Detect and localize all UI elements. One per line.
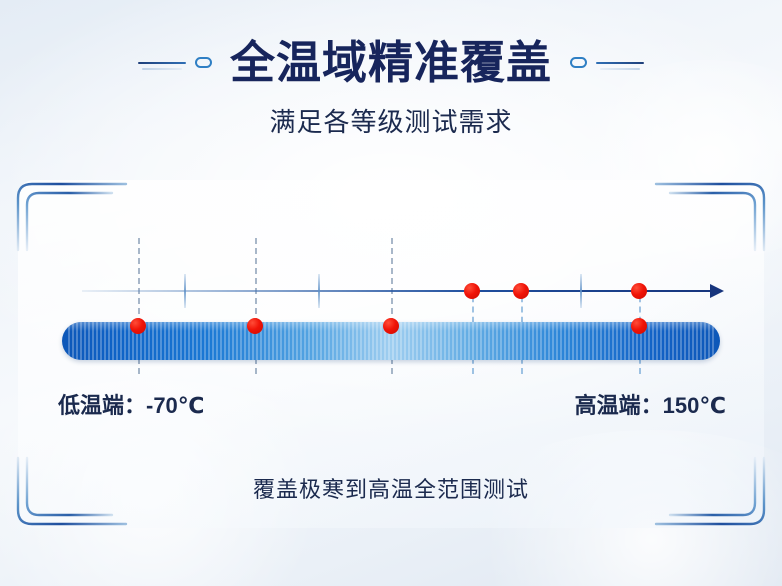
page-title: 全温域精准覆盖: [230, 38, 552, 88]
data-point-marker[interactable]: [631, 318, 647, 334]
ornament-rule: [596, 62, 644, 64]
page-subtitle: 满足各等级测试需求: [0, 102, 782, 139]
pill-line-ornament-icon: [566, 50, 644, 76]
axis-tick: [580, 274, 582, 308]
axis-line: [82, 290, 712, 292]
data-point-marker[interactable]: [513, 283, 529, 299]
ornament-pill: [570, 57, 587, 68]
low-temperature-label: 低温端：-70℃: [58, 388, 204, 420]
axis-arrow-icon: [710, 284, 724, 298]
temperature-range-chart: 低温端：-70℃ 高温端：150℃ 覆盖极寒到高温全范围测试: [18, 180, 764, 528]
slide-canvas: 全温域精准覆盖 满足各等级测试需求: [0, 0, 782, 586]
header: 全温域精准覆盖 满足各等级测试需求: [0, 38, 782, 139]
data-point-marker[interactable]: [631, 283, 647, 299]
ornament-pill: [195, 57, 212, 68]
data-point-marker[interactable]: [247, 318, 263, 334]
chart-caption: 覆盖极寒到高温全范围测试: [18, 472, 764, 504]
axis-tick: [184, 274, 186, 308]
ornament-rule: [138, 62, 186, 64]
data-point-marker[interactable]: [383, 318, 399, 334]
data-point-marker[interactable]: [464, 283, 480, 299]
content-panel: 低温端：-70℃ 高温端：150℃ 覆盖极寒到高温全范围测试: [18, 180, 764, 528]
ornament-rule-faint: [600, 68, 640, 70]
data-point-marker[interactable]: [130, 318, 146, 334]
title-row: 全温域精准覆盖: [0, 38, 782, 88]
line-pill-ornament-icon: [138, 50, 216, 76]
high-temperature-label: 高温端：150℃: [575, 388, 726, 420]
axis-tick: [318, 274, 320, 308]
ornament-rule-faint: [142, 68, 182, 70]
